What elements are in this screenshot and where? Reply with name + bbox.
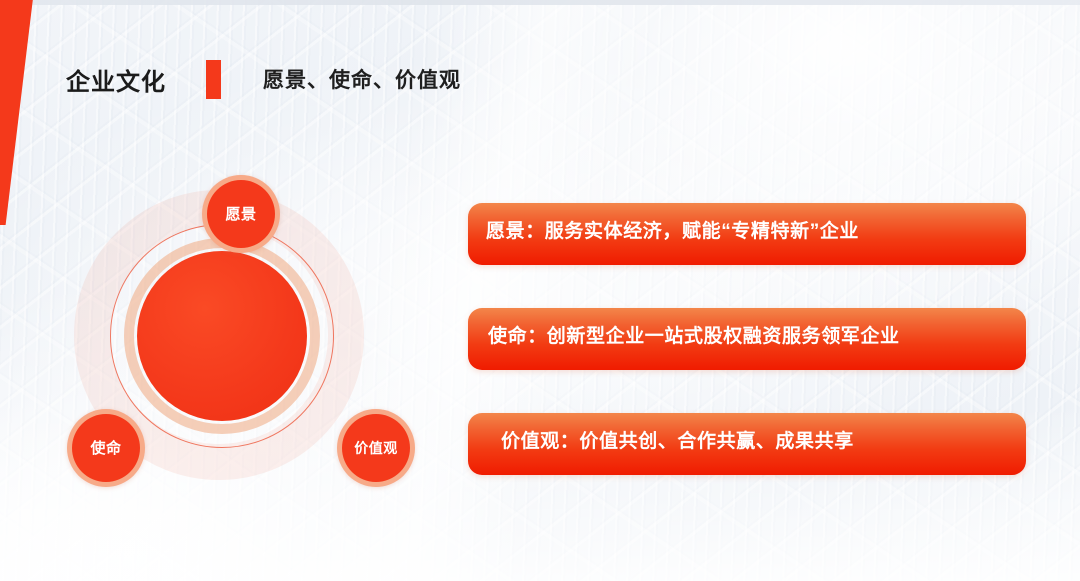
diagram-node-vision-label: 愿景: [225, 207, 256, 222]
page-subtitle: 愿景、使命、价值观: [263, 64, 461, 94]
banner-mission-text: 使命：创新型企业一站式股权融资服务领军企业: [468, 321, 900, 348]
page-title: 企业文化: [66, 62, 166, 97]
top-edge-strip: [0, 0, 1080, 5]
diagram-core-circle: [137, 251, 307, 421]
slide-canvas: 企业文化 愿景、使命、价值观 愿景 使命 价值观 愿景：服务实体经济，赋能“专精…: [0, 0, 1080, 581]
banner-vision-text: 愿景：服务实体经济，赋能“专精特新”企业: [468, 216, 859, 243]
diagram-node-mission[interactable]: 使命: [67, 409, 145, 487]
statement-banner-list: 愿景：服务实体经济，赋能“专精特新”企业 使命：创新型企业一站式股权融资服务领军…: [468, 203, 1026, 475]
banner-values[interactable]: 价值观：价值共创、合作共赢、成果共享: [468, 413, 1026, 475]
banner-values-text: 价值观：价值共创、合作共赢、成果共享: [468, 426, 854, 453]
diagram-node-values[interactable]: 价值观: [337, 409, 415, 487]
diagram-node-values-label: 价值观: [354, 441, 398, 455]
diagram-node-vision[interactable]: 愿景: [202, 175, 280, 253]
slide-header: 企业文化 愿景、使命、价值观: [66, 59, 461, 99]
culture-circle-diagram: 愿景 使命 价值观: [18, 160, 438, 530]
vertical-bar-icon: [206, 60, 221, 99]
banner-mission[interactable]: 使命：创新型企业一站式股权融资服务领军企业: [468, 308, 1026, 370]
banner-vision[interactable]: 愿景：服务实体经济，赋能“专精特新”企业: [468, 203, 1026, 265]
diagram-node-mission-label: 使命: [90, 441, 121, 456]
